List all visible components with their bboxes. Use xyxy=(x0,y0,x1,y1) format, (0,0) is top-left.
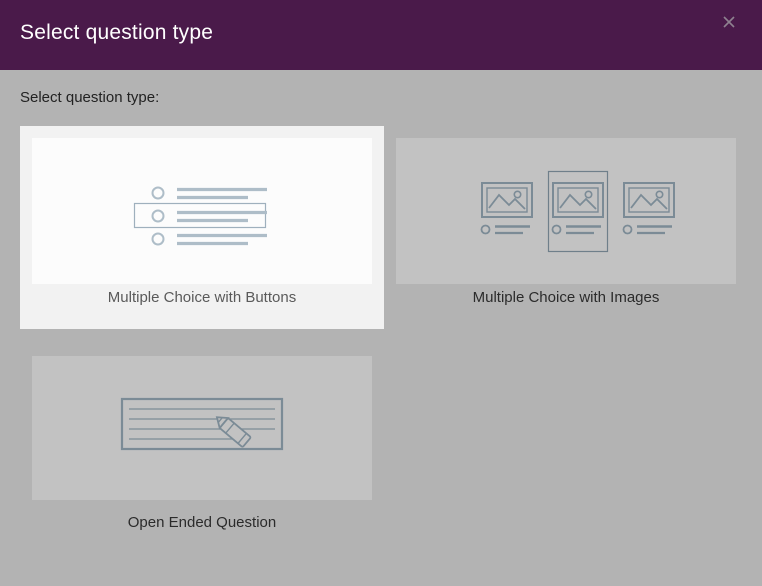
option-card-multiple-choice-with-buttons[interactable]: Multiple Choice with Buttons xyxy=(20,126,384,329)
radio-list-icon xyxy=(32,138,372,284)
dialog-header: Select question type xyxy=(0,0,762,70)
thumbnail-multiple-choice-with-buttons xyxy=(32,138,372,284)
option-card-multiple-choice-with-images[interactable]: Multiple Choice with Images xyxy=(396,126,736,329)
thumbnail-multiple-choice-with-images xyxy=(396,138,736,284)
dialog-body: Select question type: xyxy=(0,70,762,586)
image-choices-icon xyxy=(396,138,736,284)
close-icon[interactable] xyxy=(716,9,742,35)
option-card-open-ended-question[interactable]: Open Ended Question xyxy=(32,356,372,571)
option-label-multiple-choice-with-images: Multiple Choice with Images xyxy=(396,289,736,306)
close-x-glyph xyxy=(721,14,737,30)
option-label-multiple-choice-with-buttons: Multiple Choice with Buttons xyxy=(20,289,384,306)
prompt-label: Select question type: xyxy=(20,89,159,106)
thumbnail-open-ended-question xyxy=(32,356,372,500)
dialog-title: Select question type xyxy=(20,21,213,45)
lined-paper-pencil-icon xyxy=(32,356,372,500)
option-label-open-ended-question: Open Ended Question xyxy=(32,514,372,531)
